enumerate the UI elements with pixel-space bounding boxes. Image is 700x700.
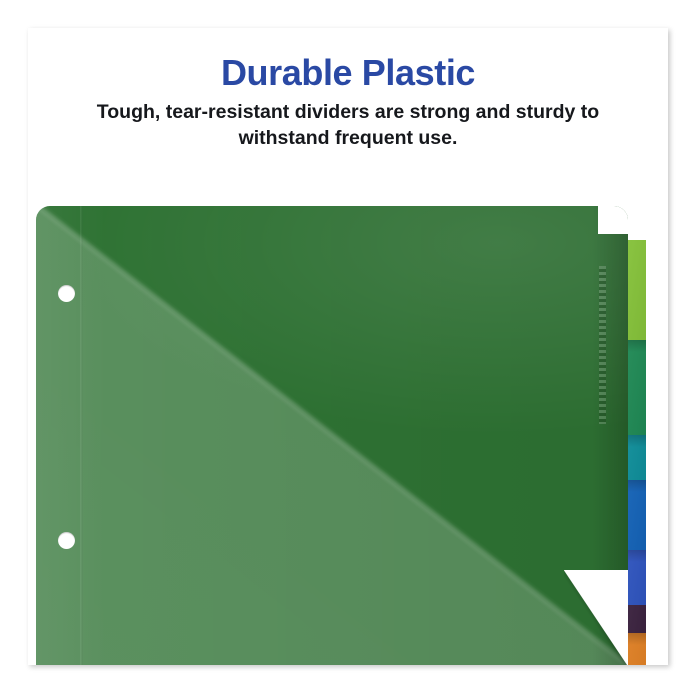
punch-hole-top	[58, 285, 75, 302]
page-subtitle: Tough, tear-resistant dividers are stron…	[50, 99, 646, 151]
pocket-flap-cut-shadow	[564, 570, 628, 665]
punch-hole-bottom	[58, 532, 75, 549]
tab-notch-cutout	[598, 206, 628, 234]
sheet-gloss	[36, 206, 628, 665]
left-edge-crease	[80, 206, 83, 665]
front-divider-sheet	[36, 206, 628, 665]
page-title: Durable Plastic	[28, 53, 668, 93]
product-marketing-image: Durable Plastic Tough, tear-resistant di…	[0, 0, 700, 700]
product-photo	[28, 178, 668, 665]
product-card: Durable Plastic Tough, tear-resistant di…	[28, 28, 668, 665]
